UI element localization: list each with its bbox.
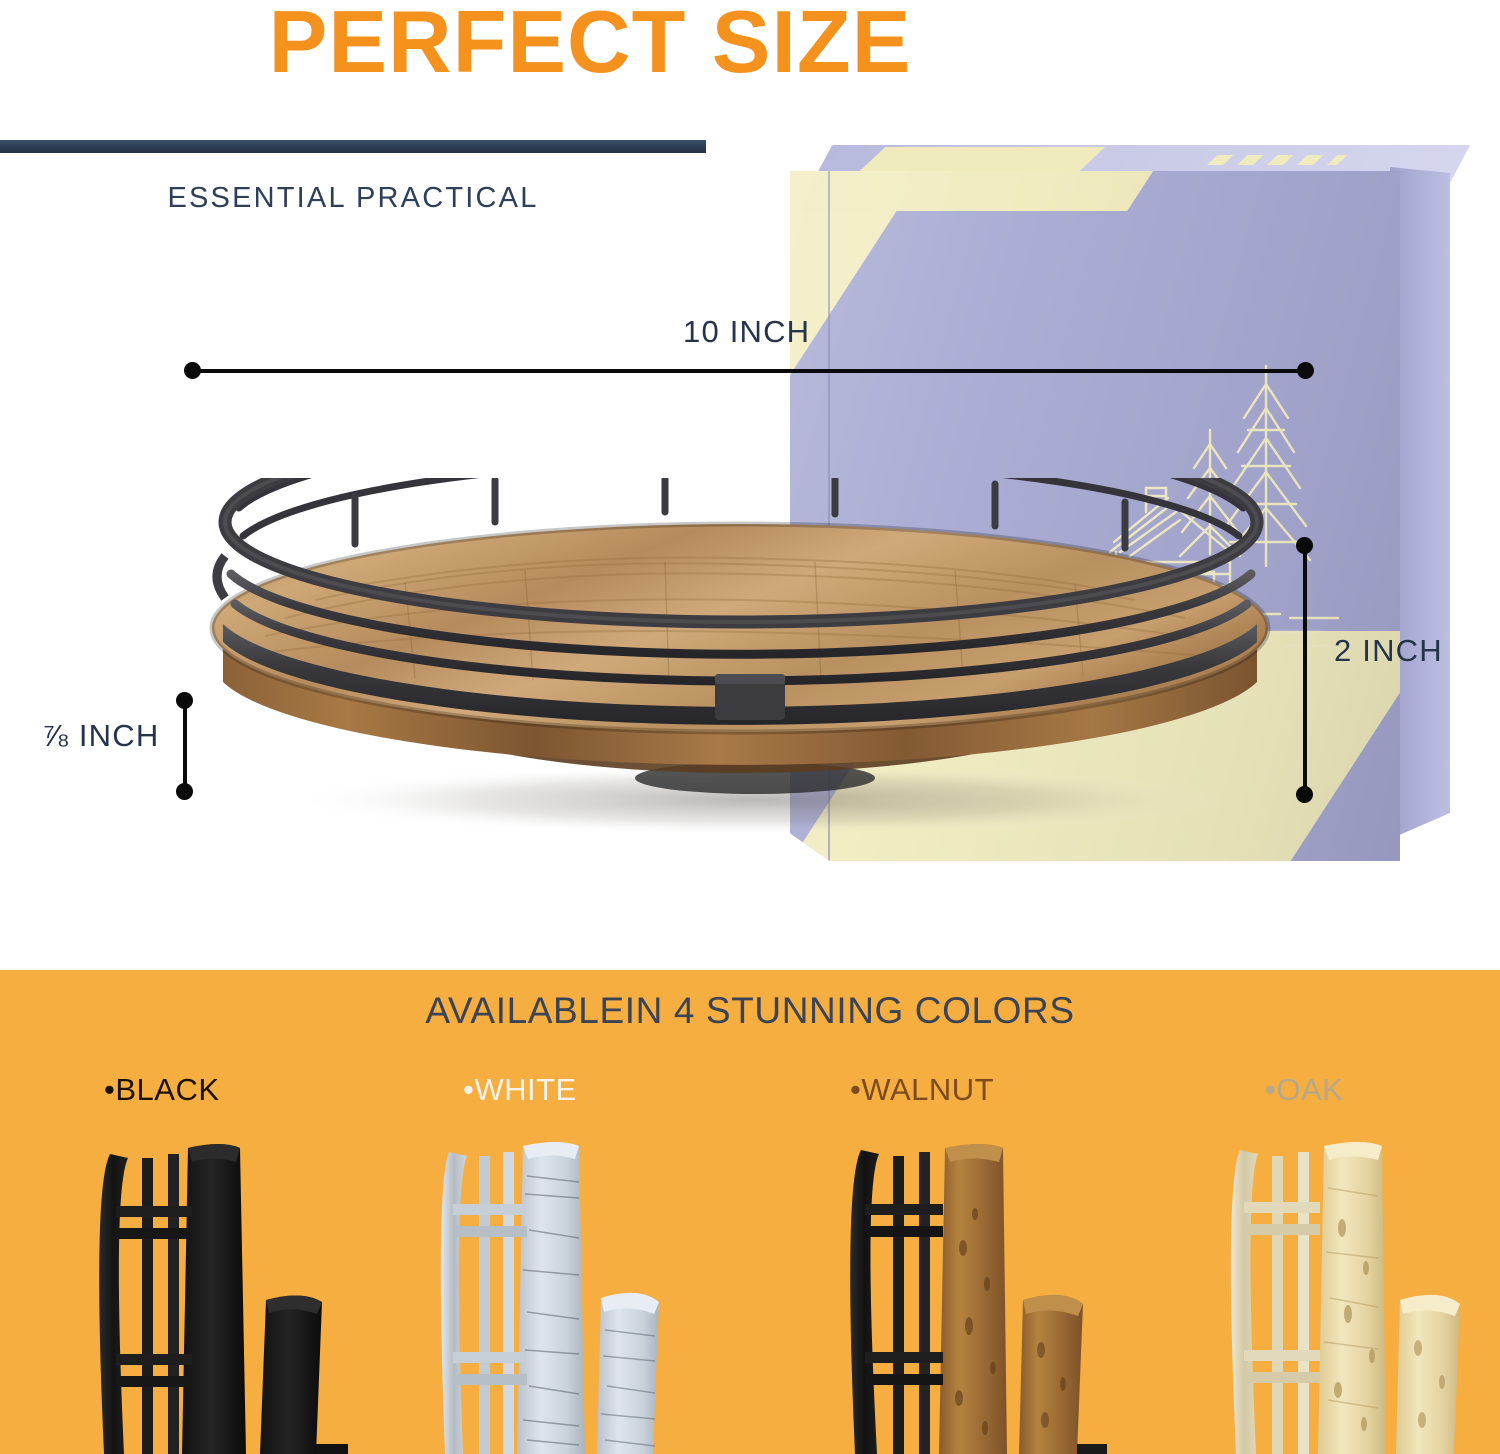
color-swatch-walnut bbox=[835, 1128, 1135, 1454]
dimension-endpoint-dot bbox=[176, 692, 193, 709]
color-option-label-white: •WHITE bbox=[463, 1072, 577, 1108]
dimension-endpoint-dot bbox=[1296, 537, 1313, 554]
product-turntable-image bbox=[195, 478, 1285, 833]
dimension-label-thickness: ⅞ INCH bbox=[42, 718, 159, 754]
dimension-line-thickness bbox=[183, 700, 187, 790]
dimension-endpoint-dot bbox=[1297, 362, 1314, 379]
box-top-dashes bbox=[1207, 155, 1348, 165]
dimension-line-diameter bbox=[192, 369, 1306, 373]
color-swatch-black bbox=[70, 1128, 390, 1454]
perfect-size-panel: PERFECT SIZE ESSENTIAL PRACTICAL bbox=[0, 0, 1500, 970]
color-option-label-walnut: •WALNUT bbox=[850, 1072, 994, 1108]
color-swatch-oak bbox=[1220, 1128, 1500, 1454]
color-option-label-oak: •OAK bbox=[1265, 1072, 1343, 1108]
dimension-line-height bbox=[1303, 545, 1307, 793]
dimension-label-height: 2 INCH bbox=[1334, 633, 1443, 669]
dimension-endpoint-dot bbox=[184, 362, 201, 379]
subtitle: ESSENTIAL PRACTICAL bbox=[0, 182, 706, 215]
dimension-endpoint-dot bbox=[1296, 786, 1313, 803]
color-swatch-white bbox=[435, 1128, 710, 1454]
title-accent-bar bbox=[0, 140, 706, 153]
color-option-label-black: •BLACK bbox=[104, 1072, 220, 1108]
page-title: PERFECT SIZE bbox=[0, 0, 1180, 88]
dimension-endpoint-dot bbox=[176, 783, 193, 800]
colors-section-heading: AVAILABLEIN 4 STUNNING COLORS bbox=[0, 990, 1500, 1032]
dimension-label-diameter: 10 INCH bbox=[683, 314, 810, 350]
